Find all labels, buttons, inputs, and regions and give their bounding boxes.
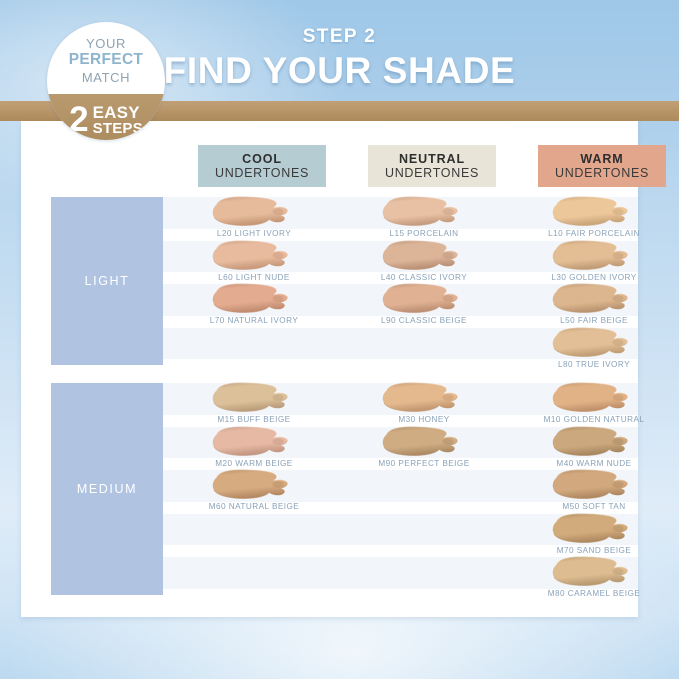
shade-cell[interactable]: L15 PORCELAIN [339,195,509,238]
shade-swatch-icon [208,282,300,315]
shade-cell[interactable]: M15 BUFF BEIGE [169,381,339,424]
shade-label: L15 PORCELAIN [339,229,509,238]
column-header-sub: UNDERTONES [385,166,479,180]
shade-cell[interactable]: M30 HONEY [339,381,509,424]
shade-swatch-icon [548,326,640,359]
shade-swatch-icon [548,555,640,588]
shade-swatch-icon [378,195,470,228]
shade-label: M90 PERFECT BEIGE [339,459,509,468]
shade-cell[interactable]: L50 FAIR BEIGE [509,282,679,325]
shade-cell[interactable]: L40 CLASSIC IVORY [339,239,509,282]
column-header-name: COOL [242,152,282,166]
shade-label: L20 LIGHT IVORY [169,229,339,238]
shade-chart-card: COOLUNDERTONESNEUTRALUNDERTONESWARMUNDER… [21,121,638,617]
shade-swatch-icon [548,512,640,545]
shade-swatch-icon [548,468,640,501]
shade-label: M10 GOLDEN NATURAL [509,415,679,424]
shade-swatch-icon [378,381,470,414]
shade-swatch-icon [208,425,300,458]
group-label-light: LIGHT [51,197,163,365]
shade-label: M80 CARAMEL BEIGE [509,589,679,598]
shade-cell[interactable]: M50 SOFT TAN [509,468,679,511]
shade-cell[interactable]: L10 FAIR PORCELAIN [509,195,679,238]
shade-swatch-icon [378,425,470,458]
shade-label: M30 HONEY [339,415,509,424]
badge-number: 2 [69,104,88,136]
shade-cell[interactable]: M20 WARM BEIGE [169,425,339,468]
shade-swatch-icon [548,239,640,272]
shade-label: L70 NATURAL IVORY [169,316,339,325]
shade-cell[interactable]: L30 GOLDEN IVORY [509,239,679,282]
shade-cell[interactable]: L60 LIGHT NUDE [169,239,339,282]
shade-label: L90 CLASSIC BEIGE [339,316,509,325]
group-label-text: MEDIUM [51,482,163,496]
shade-label: M60 NATURAL BEIGE [169,502,339,511]
shade-cell[interactable]: L20 LIGHT IVORY [169,195,339,238]
shade-label: M20 WARM BEIGE [169,459,339,468]
shade-cell[interactable]: L80 TRUE IVORY [509,326,679,369]
column-headers: COOLUNDERTONESNEUTRALUNDERTONESWARMUNDER… [21,145,638,187]
badge-line-1: YOUR [47,36,165,51]
badge-bottom-text: 2 EASY STEPS [47,104,165,136]
shade-swatch-icon [208,381,300,414]
shade-cell[interactable]: M80 CARAMEL BEIGE [509,555,679,598]
shade-label: L60 LIGHT NUDE [169,273,339,282]
group-label-text: LIGHT [51,274,163,288]
shade-swatch-icon [548,425,640,458]
shade-label: L40 CLASSIC IVORY [339,273,509,282]
shade-label: M50 SOFT TAN [509,502,679,511]
shade-swatch-icon [548,381,640,414]
shade-swatch-icon [378,282,470,315]
shade-cell[interactable]: L70 NATURAL IVORY [169,282,339,325]
badge-steps-text: EASY STEPS [93,104,143,136]
shade-label: M40 WARM NUDE [509,459,679,468]
shade-label: L30 GOLDEN IVORY [509,273,679,282]
column-header-sub: UNDERTONES [215,166,309,180]
column-header-cool: COOLUNDERTONES [198,145,326,187]
badge-top-text: YOUR PERFECT MATCH [47,36,165,85]
column-header-warm: WARMUNDERTONES [538,145,666,187]
badge-steps: STEPS [93,121,143,136]
shade-finder-page: STEP 2 FIND YOUR SHADE YOUR PERFECT MATC… [0,0,679,679]
shade-swatch-icon [378,239,470,272]
shade-cell[interactable]: M10 GOLDEN NATURAL [509,381,679,424]
column-header-neutral: NEUTRALUNDERTONES [368,145,496,187]
shade-swatch-icon [548,195,640,228]
shade-label: M15 BUFF BEIGE [169,415,339,424]
shade-cell[interactable]: M60 NATURAL BEIGE [169,468,339,511]
shade-cell[interactable]: L90 CLASSIC BEIGE [339,282,509,325]
shade-cell[interactable]: M90 PERFECT BEIGE [339,425,509,468]
shade-swatch-icon [208,468,300,501]
shade-cell[interactable]: M40 WARM NUDE [509,425,679,468]
badge-line-2: PERFECT [47,51,165,69]
shade-swatch-icon [548,282,640,315]
shade-label: L80 TRUE IVORY [509,360,679,369]
group-label-medium: MEDIUM [51,383,163,595]
shade-label: L10 FAIR PORCELAIN [509,229,679,238]
badge-easy: EASY [93,104,143,121]
perfect-match-badge: YOUR PERFECT MATCH 2 EASY STEPS [47,22,165,140]
badge-line-3: MATCH [47,70,165,85]
column-header-sub: UNDERTONES [555,166,649,180]
column-header-name: NEUTRAL [399,152,465,166]
shade-swatch-icon [208,195,300,228]
column-header-name: WARM [580,152,623,166]
shade-label: M70 SAND BEIGE [509,546,679,555]
shade-table: LIGHT L20 LIGHT IVORY L60 LIGHT NUDE [21,195,638,617]
shade-label: L50 FAIR BEIGE [509,316,679,325]
shade-swatch-icon [208,239,300,272]
shade-cell[interactable]: M70 SAND BEIGE [509,512,679,555]
